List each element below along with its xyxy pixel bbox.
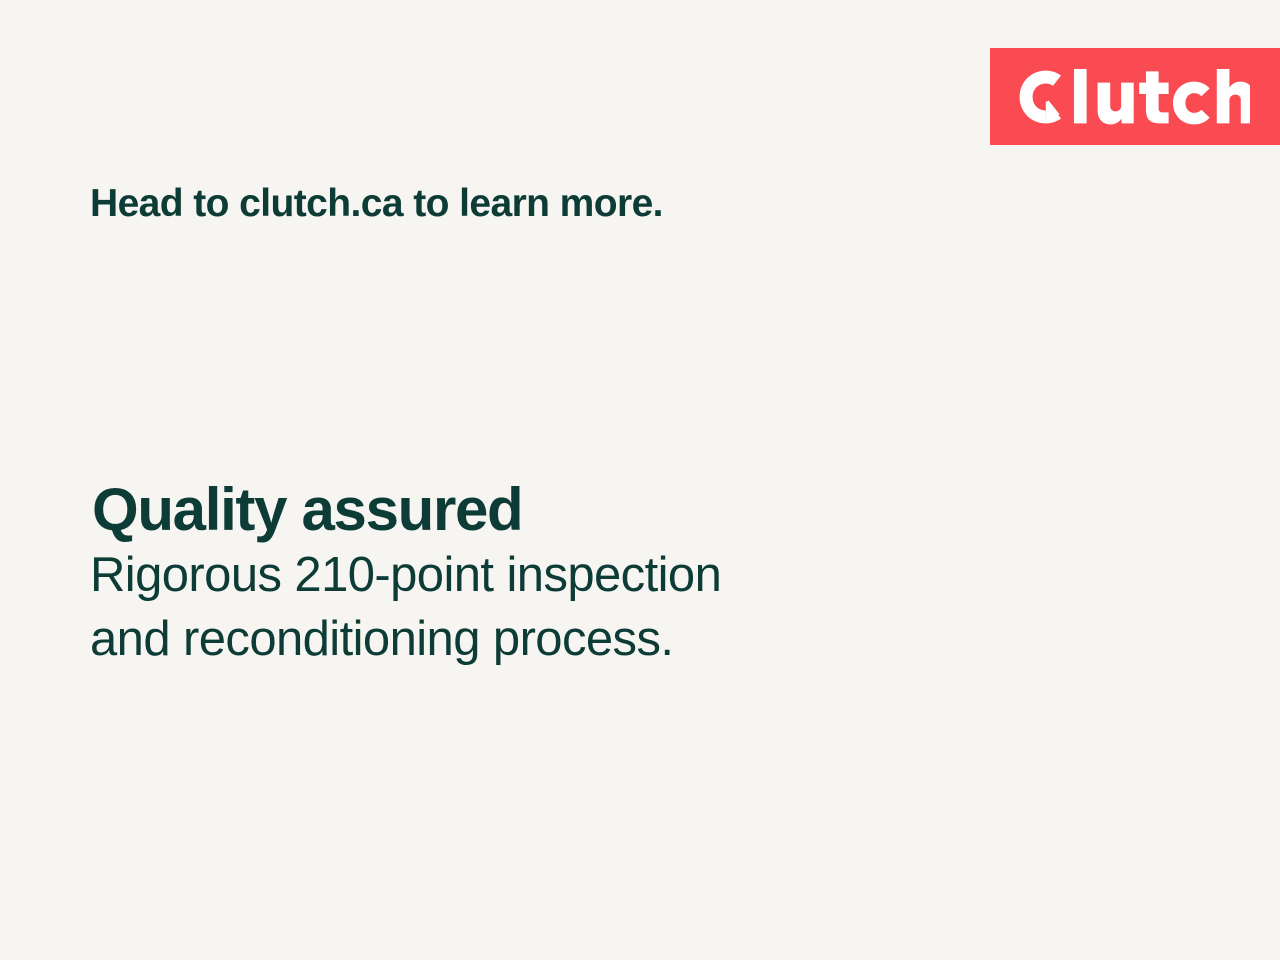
body-copy-line-1: Rigorous 210-point inspection: [90, 544, 721, 608]
slide-content: Head to clutch.ca to learn more. Quality…: [90, 0, 1090, 960]
slide-canvas: Head to clutch.ca to learn more. Quality…: [0, 0, 1280, 960]
headline: Quality assured: [92, 478, 522, 543]
body-copy: Rigorous 210-point inspection and recond…: [90, 544, 721, 671]
eyebrow-text: Head to clutch.ca to learn more.: [90, 182, 663, 226]
body-copy-line-2: and reconditioning process.: [90, 608, 721, 672]
